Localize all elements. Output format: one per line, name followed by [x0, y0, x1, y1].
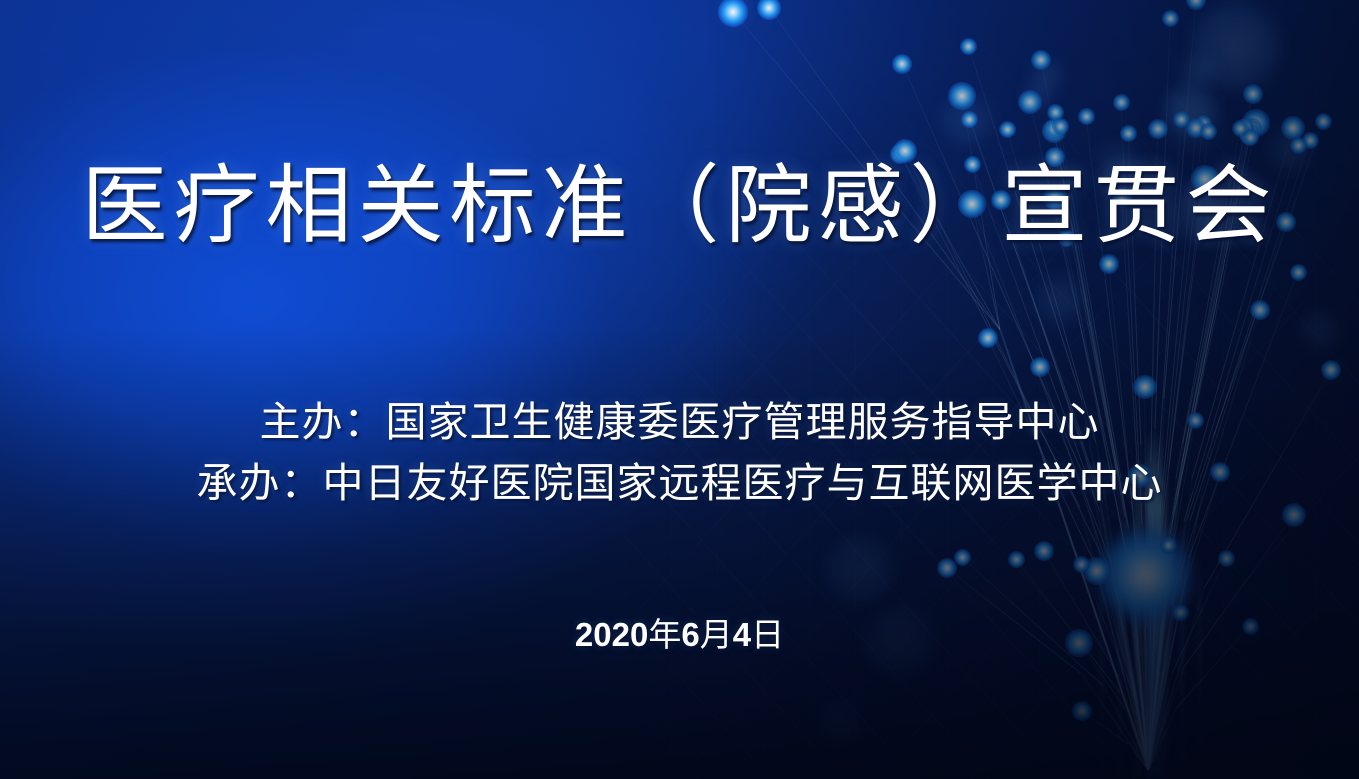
date-month-unit: 月	[700, 618, 733, 654]
slide-content: 医疗相关标准（院感）宣贯会 主办：国家卫生健康委医疗管理服务指导中心 承办：中日…	[0, 0, 1359, 779]
date-day: 4	[733, 616, 751, 653]
date-day-unit: 日	[751, 618, 784, 654]
organizer-line: 主办：国家卫生健康委医疗管理服务指导中心	[0, 392, 1359, 453]
host-line: 承办：中日友好医院国家远程医疗与互联网医学中心	[0, 453, 1359, 514]
slide-title: 医疗相关标准（院感）宣贯会	[0, 158, 1359, 254]
date-year-unit: 年	[648, 618, 681, 654]
date-month: 6	[681, 616, 699, 653]
slide-date: 2020年6月4日	[0, 608, 1359, 656]
date-year: 2020	[575, 616, 648, 653]
slide-subtitle-block: 主办：国家卫生健康委医疗管理服务指导中心 承办：中日友好医院国家远程医疗与互联网…	[0, 392, 1359, 513]
presentation-slide: 医疗相关标准（院感）宣贯会 主办：国家卫生健康委医疗管理服务指导中心 承办：中日…	[0, 0, 1359, 779]
